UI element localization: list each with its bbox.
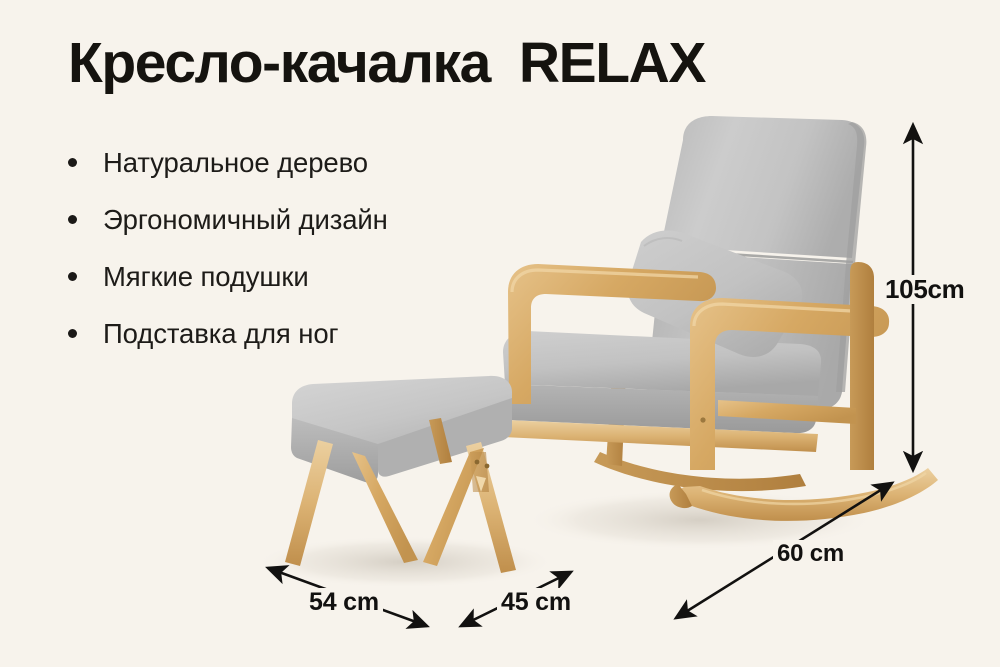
feature-list: Натуральное дерево Эргономичный дизайн М… — [68, 134, 498, 362]
feature-label: Эргономичный дизайн — [103, 204, 388, 236]
page-title: Кресло-качалка RELAX — [68, 31, 705, 97]
chair-back-upright-right — [850, 262, 874, 470]
dimension-label-height: 105cm — [881, 275, 968, 304]
ottoman-joint-dot-2 — [485, 464, 490, 469]
bullet-dot-icon — [68, 272, 77, 281]
ottoman-joint-dot-1 — [475, 460, 480, 465]
bullet-dot-icon — [68, 329, 77, 338]
rocking-chair — [500, 116, 938, 521]
feature-item-cushions: Мягкие подушки — [68, 248, 498, 305]
bullet-dot-icon — [68, 215, 77, 224]
feature-label: Мягкие подушки — [103, 261, 309, 293]
chair-joint-dot — [700, 417, 705, 422]
bullet-dot-icon — [68, 158, 77, 167]
feature-item-wood: Натуральное дерево — [68, 134, 498, 191]
feature-item-footrest: Подставка для ног — [68, 305, 498, 362]
dimension-label-ottoman-width: 54 cm — [305, 588, 383, 616]
feature-item-design: Эргономичный дизайн — [68, 191, 498, 248]
feature-label: Натуральное дерево — [103, 147, 368, 179]
dimension-label-depth: 60 cm — [773, 540, 848, 567]
dimension-label-ottoman-depth: 45 cm — [497, 588, 575, 616]
product-infographic: Кресло-качалка RELAX Натуральное дерево … — [0, 0, 1000, 667]
feature-label: Подставка для ног — [103, 318, 338, 350]
